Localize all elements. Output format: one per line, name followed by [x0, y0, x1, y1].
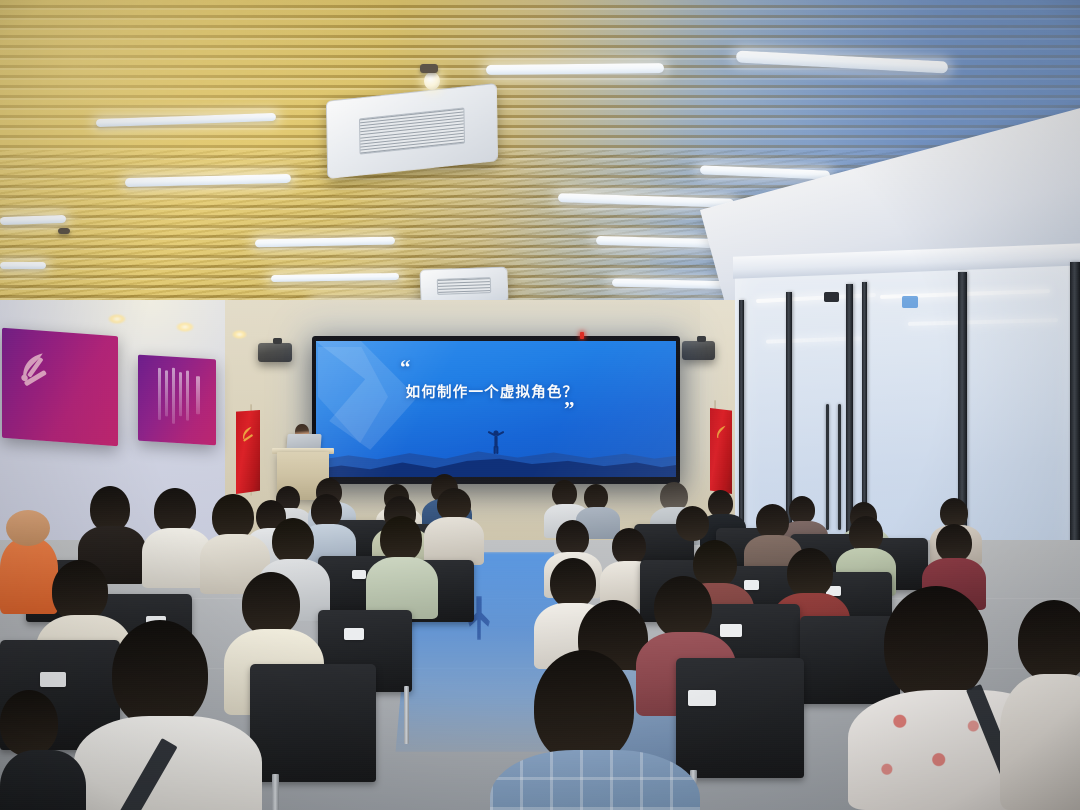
attendee-body [1000, 674, 1080, 810]
person-raised-arms-icon [487, 429, 505, 455]
chair-armrest-clip [352, 570, 366, 579]
attendee-head [112, 620, 208, 728]
attendee-head [552, 480, 577, 507]
attendee-arm [6, 510, 50, 546]
attendee-body [0, 750, 86, 810]
attendee-body [0, 538, 58, 614]
downlight [176, 322, 194, 332]
attendee-head [849, 516, 883, 552]
lecture-hall-photo: “ 如何制作一个虚拟角色？ ” [0, 0, 1080, 810]
quote-open-mark: “ [400, 357, 410, 378]
attendee-head [884, 586, 988, 702]
chair-armrest-clip [744, 580, 759, 590]
audience-chair[interactable] [676, 658, 804, 778]
hammer-and-sickle-icon [14, 343, 60, 392]
audience-chair[interactable] [250, 664, 376, 782]
attendee-head [550, 558, 596, 608]
attendee-head [556, 520, 589, 556]
attendee-head [756, 504, 789, 539]
attendee-head [534, 650, 634, 764]
ceiling-tube-light [486, 63, 664, 75]
hammer-and-sickle-icon [713, 422, 733, 442]
glass-mullion [1070, 262, 1080, 582]
attendee-head [380, 516, 422, 562]
chair-armrest-clip [720, 624, 742, 637]
attendee-head [612, 528, 646, 565]
downlight [232, 330, 247, 339]
attendee-head [676, 506, 709, 541]
attendee-head [1018, 600, 1080, 682]
attendee-head [708, 490, 733, 517]
presentation-slide: “ 如何制作一个虚拟角色？ ” [316, 341, 676, 477]
security-camera [824, 292, 839, 302]
glass-door-handle[interactable] [838, 404, 841, 530]
ac-grill [437, 277, 491, 295]
glass-door-handle[interactable] [826, 404, 829, 530]
ceiling-tube-light [0, 262, 46, 269]
ac-grill [359, 107, 464, 155]
chair-armrest-clip [344, 628, 364, 640]
led-video-wall[interactable]: “ 如何制作一个虚拟角色？ ” [312, 336, 680, 484]
chair-leg [272, 774, 279, 810]
chair-armrest-clip [688, 690, 716, 706]
power-indicator-light [580, 332, 584, 339]
attendee-head [242, 572, 300, 636]
attendee-head [787, 548, 833, 598]
ceiling-sensor [58, 228, 70, 234]
party-flag-left [236, 410, 260, 494]
wall-sign [902, 296, 918, 308]
party-emblem-poster [2, 328, 118, 447]
attendee-head [936, 524, 972, 562]
chair-armrest-clip [40, 672, 66, 687]
party-text-poster [138, 355, 216, 446]
hammer-and-sickle-icon [239, 423, 259, 443]
attendee-head [789, 496, 815, 524]
attendee-head [0, 690, 58, 756]
slide-title-text: 如何制作一个虚拟角色？ [404, 381, 580, 402]
chair-leg [404, 686, 409, 744]
downlight [108, 314, 126, 324]
attendee-head [654, 576, 712, 638]
attendee-head [272, 518, 314, 564]
attendee-head [52, 560, 108, 622]
ceiling-speaker [420, 64, 438, 73]
quote-close-mark: ” [564, 399, 574, 420]
party-flag-right [710, 408, 732, 494]
attendee-body [424, 517, 484, 565]
wall-speaker-right [682, 341, 715, 360]
attendee-head [311, 494, 342, 528]
ceiling-pendant-light [424, 72, 440, 90]
wall-speaker-left [258, 343, 292, 362]
